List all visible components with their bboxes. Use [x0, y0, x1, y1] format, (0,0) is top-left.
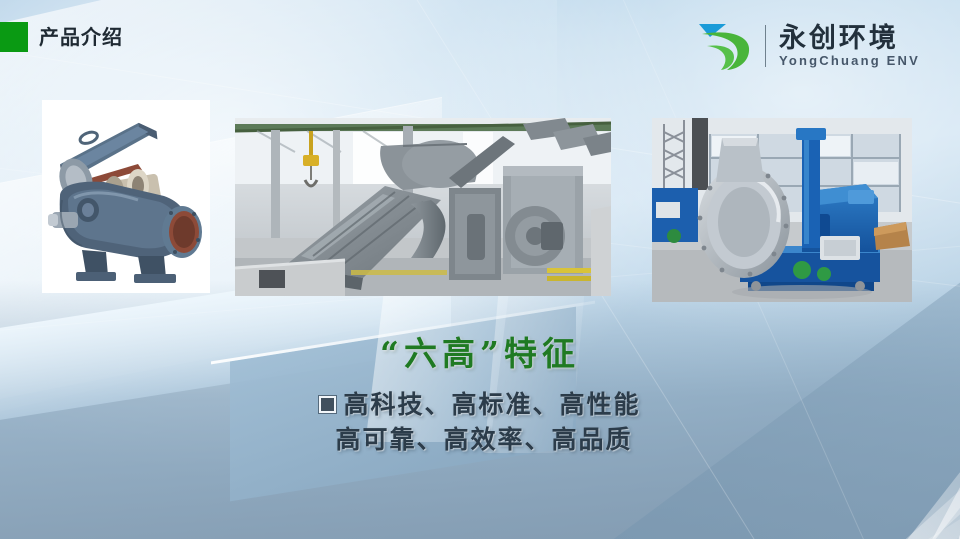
square-bullet-icon	[319, 396, 336, 413]
yongchuang-swoosh-icon	[696, 20, 752, 72]
logo-company-en: YongChuang ENV	[779, 54, 920, 67]
page-title: 产品介绍	[0, 22, 123, 52]
title-marker-icon	[0, 22, 28, 52]
feature-text-1: 高科技、高标准、高性能	[343, 388, 640, 421]
pump-cutaway-illustration	[42, 100, 210, 293]
photo-blue-unit	[652, 118, 912, 302]
company-logo: 永创环境 YongChuang ENV	[696, 20, 920, 72]
photo-factory-gray	[235, 118, 611, 296]
logo-company-cn: 永创环境	[779, 25, 920, 53]
feature-list: 高科技、高标准、高性能 高可靠、高效率、高品质	[0, 388, 960, 456]
factory-machinery-illustration	[235, 118, 611, 296]
logo-text-block: 永创环境 YongChuang ENV	[779, 25, 920, 67]
feature-heading: “六高”特征	[0, 327, 960, 375]
photo-pump-cutaway	[42, 100, 210, 293]
logo-divider	[765, 25, 766, 67]
title-label: 产品介绍	[39, 27, 123, 47]
blue-machine-illustration	[652, 118, 912, 302]
feature-line-2: 高可靠、高效率、高品质	[327, 423, 632, 456]
slide-root: 产品介绍 永创环境 YongChuang ENV	[0, 0, 960, 539]
feature-line-1: 高科技、高标准、高性能	[319, 388, 640, 421]
feature-text-2: 高可靠、高效率、高品质	[335, 423, 632, 456]
